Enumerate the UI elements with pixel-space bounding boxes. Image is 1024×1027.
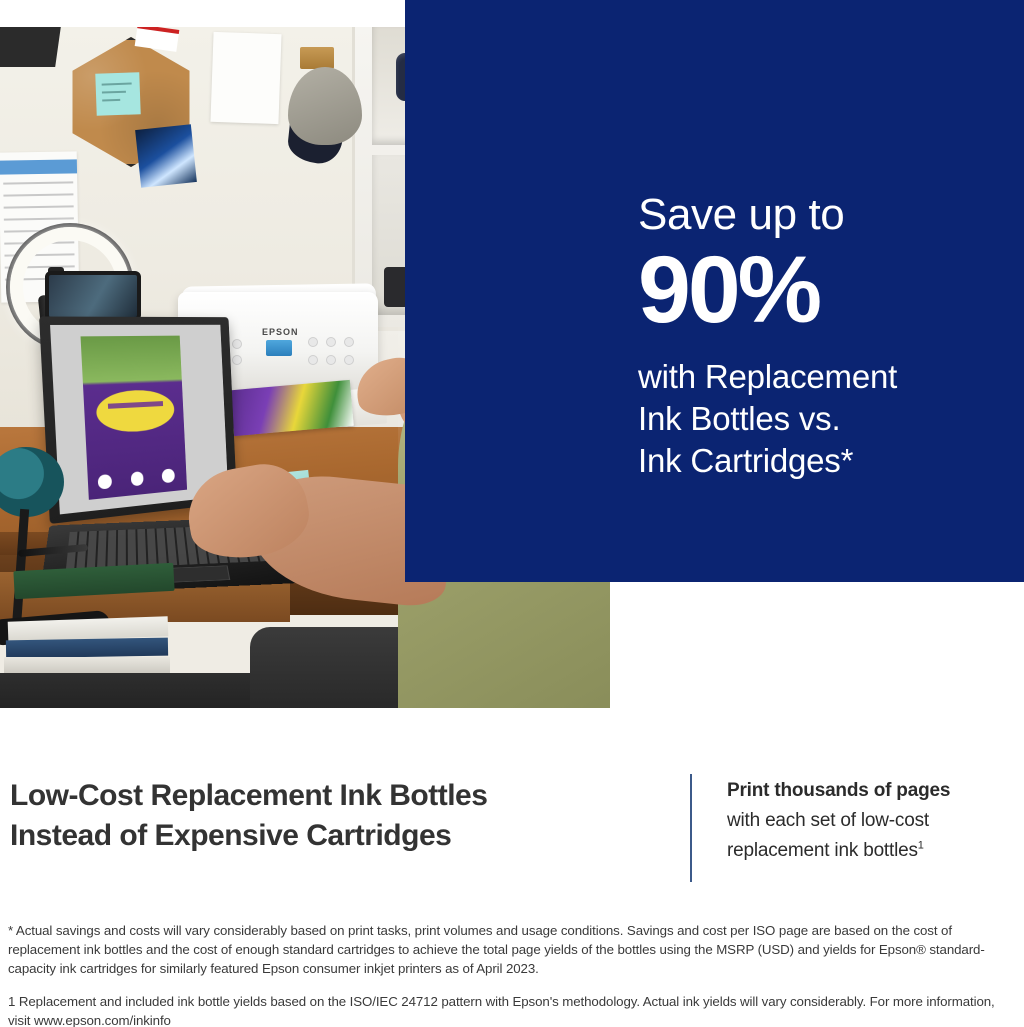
photo-printer-display [266,340,292,356]
hero-subheadline-line-2: Ink Bottles vs. [638,398,1008,440]
hero-copy-block: Save up to 90% with Replacement Ink Bott… [638,192,1008,482]
hero-subheadline-line-1: with Replacement [638,356,1008,398]
photo-design-poster [80,335,187,500]
photo-concert-print [135,124,197,188]
mid-headline-line-2: Instead of Expensive Cartridges [10,816,670,856]
side-copy-line-3-text: replacement ink bottles [727,840,918,861]
hero-headline-save: Save up to [638,192,1008,239]
photo-notebook-cream [4,657,170,673]
hero-subheadline-line-3: Ink Cartridges* [638,440,1008,482]
footnote-asterisk: * Actual savings and costs will vary con… [8,922,1008,979]
mid-headline-line-1: Low-Cost Replacement Ink Bottles [10,776,670,816]
side-copy-line-3: replacement ink bottles1 [727,836,1012,867]
mid-side-copy: Print thousands of pages with each set o… [727,777,1012,867]
side-copy-footnote-marker: 1 [918,840,924,852]
photo-notebook-blue [6,638,168,659]
photo-wall-peg [300,47,334,69]
hero-headline-percent: 90% [638,247,1008,334]
hero-subheadline: with Replacement Ink Bottles vs. Ink Car… [638,356,1008,482]
vertical-divider [690,774,692,882]
mid-headline: Low-Cost Replacement Ink Bottles Instead… [10,776,670,855]
footnotes-section: * Actual savings and costs will vary con… [8,922,1008,1027]
side-copy-line-2: with each set of low-cost [727,806,1012,837]
mid-section: Low-Cost Replacement Ink Bottles Instead… [0,752,1024,902]
hero-section: EPSON [0,0,1024,712]
photo-sticky-note [95,72,140,116]
photo-printer-brand-label: EPSON [262,327,299,337]
photo-smartphone [45,271,141,321]
photo-paper-sheet [210,32,281,124]
footnote-one: 1 Replacement and included ink bottle yi… [8,993,1008,1027]
side-copy-bold-line: Print thousands of pages [727,777,1012,806]
photo-dark-monitor [0,27,61,67]
promo-banner-page: EPSON [0,0,1024,1027]
